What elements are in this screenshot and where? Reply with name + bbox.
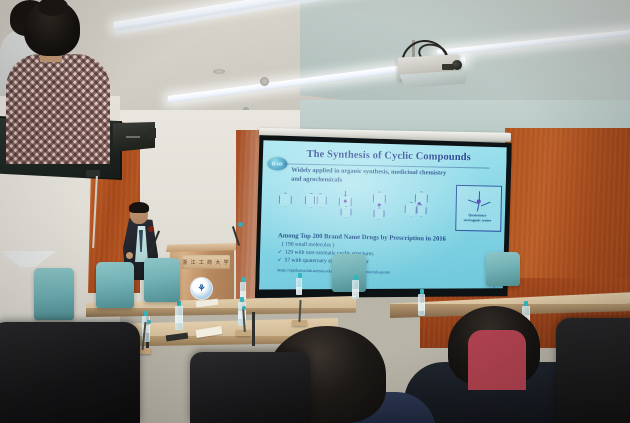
chair-teal-1 xyxy=(34,268,74,320)
lecture-hall-photo: B-141 The Synthesis of Cyclic Compounds … xyxy=(0,0,630,423)
presenter-hair xyxy=(129,202,149,213)
chair-foreground-right xyxy=(556,318,630,423)
slide-title: The Synthesis of Cyclic Compounds xyxy=(294,149,484,164)
podium-microphone-head-icon xyxy=(148,226,154,232)
slide-body: Among Top 200 Brand Name Drugs by Prescr… xyxy=(277,231,488,269)
audience-person-woman-torso xyxy=(6,54,110,164)
cyclohexane-structure-icon xyxy=(279,192,292,207)
ceiling-sprinkler-icon xyxy=(260,77,269,86)
podium-nameplate: 浙 江 工 商 大 学 xyxy=(182,255,230,269)
projected-slide: B-141 The Synthesis of Cyclic Compounds … xyxy=(259,139,507,296)
callout-caption-line-2: stereogenic center xyxy=(456,218,498,223)
chair-back-row-2 xyxy=(486,252,520,286)
water-bottle-4 xyxy=(418,294,425,316)
table-microphone-head-icon-2 xyxy=(242,306,246,310)
chair-teal-2 xyxy=(96,262,134,308)
water-bottle-2 xyxy=(296,278,302,295)
projector-lens-icon xyxy=(452,60,462,70)
water-bottle-3 xyxy=(352,280,359,299)
podium-microphone-head-icon-2 xyxy=(238,222,243,227)
chemical-structures-row xyxy=(276,187,457,225)
speaker-brand-label xyxy=(126,136,140,138)
table-leg-2 xyxy=(252,312,255,346)
chair-back-row-1 xyxy=(332,254,366,292)
speaker-bracket xyxy=(150,128,156,138)
table-middle-row-edge xyxy=(86,308,356,317)
audience-person-red-shirt xyxy=(468,330,526,390)
chair-teal-3 xyxy=(144,258,180,302)
presenter-hand xyxy=(126,252,133,259)
stereo-bond-1 xyxy=(479,191,480,200)
chair-foreground-center xyxy=(190,352,310,423)
water-bottle-8 xyxy=(175,306,183,330)
ceiling-vent-1 xyxy=(213,69,225,74)
podium-logo-icon: ⚘ xyxy=(190,277,213,300)
chair-foreground-left xyxy=(0,322,140,423)
table-microphone-head-icon-1 xyxy=(147,320,151,324)
callout-caption: Quaternary stereogenic center xyxy=(456,213,498,223)
